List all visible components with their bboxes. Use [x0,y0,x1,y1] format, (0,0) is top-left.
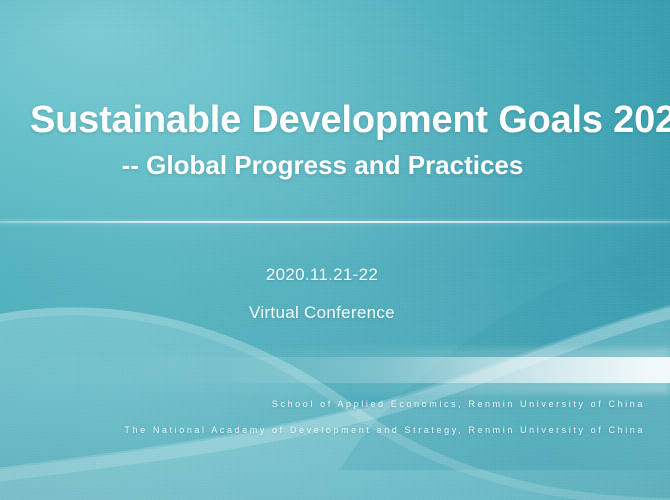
page-subtitle: -- Global Progress and Practices [0,150,645,181]
affiliation-line-1: School of Applied Economics, Renmin Univ… [272,399,645,409]
title-slide: Sustainable Development Goals 2020 -- Gl… [0,0,670,500]
conference-mode: Virtual Conference [0,303,644,323]
conference-date: 2020.11.21-22 [0,265,644,285]
slide-text-layer: Sustainable Development Goals 2020 -- Gl… [0,0,670,500]
affiliation-line-2: The National Academy of Development and … [124,425,645,435]
page-title: Sustainable Development Goals 2020 [30,99,670,142]
